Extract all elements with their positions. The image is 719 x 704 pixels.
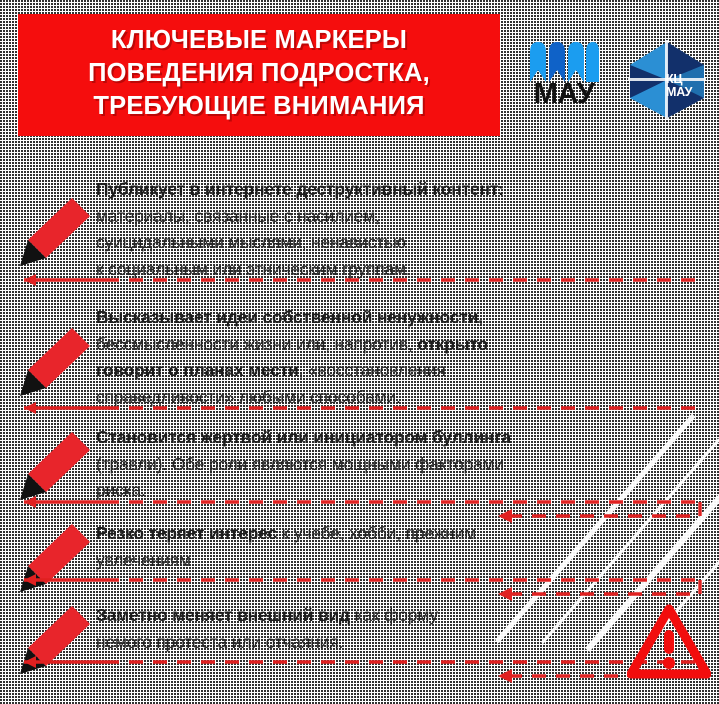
mau-wordmark: МАУ bbox=[524, 78, 604, 111]
text-line: бессмысленности жизни или, напротив, отк… bbox=[96, 331, 676, 358]
list-item: Публикует в интернете деструктивный конт… bbox=[0, 152, 719, 282]
red-marker-pen-icon bbox=[18, 326, 96, 398]
list-item: Высказывает идеи собственной ненужности,… bbox=[0, 280, 719, 412]
list-item-text: Высказывает идеи собственной ненужности,… bbox=[96, 304, 676, 410]
title-banner: КЛЮЧЕВЫЕ МАРКЕРЫ ПОВЕДЕНИЯ ПОДРОСТКА, ТР… bbox=[18, 14, 500, 136]
text-line: Становится жертвой или инициатором булли… bbox=[96, 424, 676, 451]
markers-list: Публикует в интернете деструктивный конт… bbox=[0, 152, 719, 704]
list-item: Резко теряет интерес к учебе, хобби, пре… bbox=[0, 514, 719, 600]
list-item: Становится жертвой или инициатором булли… bbox=[0, 410, 719, 516]
warning-triangle-icon bbox=[627, 604, 711, 680]
mau-mark-icon bbox=[528, 40, 600, 82]
text-line: (травли). Обе роли являются мощными факт… bbox=[96, 451, 676, 478]
list-item-text: Резко теряет интерес к учебе, хобби, пре… bbox=[96, 520, 676, 573]
kc-mau-wordmark: КЦ МАУ bbox=[666, 73, 706, 99]
red-marker-pen-icon bbox=[18, 196, 96, 268]
kc-mau-line-2: МАУ bbox=[666, 86, 706, 99]
text-line: Публикует в интернете деструктивный конт… bbox=[96, 176, 676, 203]
page-title-line-1: КЛЮЧЕВЫЕ МАРКЕРЫ bbox=[111, 24, 407, 57]
text-line: Резко теряет интерес к учебе, хобби, пре… bbox=[96, 520, 676, 547]
list-item: Заметно меняет внешний вид как формунемо… bbox=[0, 594, 719, 704]
dashed-arrow-separator bbox=[0, 652, 719, 686]
text-line: Заметно меняет внешний вид как форму bbox=[96, 602, 676, 629]
kc-mau-logo: КЦ МАУ bbox=[628, 40, 706, 120]
list-item-text: Заметно меняет внешний вид как формунемо… bbox=[96, 602, 676, 655]
text-line: Высказывает идеи собственной ненужности, bbox=[96, 304, 676, 331]
text-line: говорит о планах мести, «восстановления bbox=[96, 357, 676, 384]
text-line: материалы, связанные с насилием, bbox=[96, 203, 676, 230]
mau-logo: МАУ bbox=[524, 40, 604, 118]
text-line: суицидальными мыслями, ненавистью bbox=[96, 229, 676, 256]
infographic-poster: КЛЮЧЕВЫЕ МАРКЕРЫ ПОВЕДЕНИЯ ПОДРОСТКА, ТР… bbox=[0, 0, 719, 704]
list-item-text: Публикует в интернете деструктивный конт… bbox=[96, 176, 676, 282]
page-title-line-2: ПОВЕДЕНИЯ ПОДРОСТКА, bbox=[88, 57, 430, 90]
page-title-line-3: ТРЕБУЮЩИЕ ВНИМАНИЯ bbox=[93, 90, 424, 123]
poster-header: КЛЮЧЕВЫЕ МАРКЕРЫ ПОВЕДЕНИЯ ПОДРОСТКА, ТР… bbox=[0, 0, 719, 152]
